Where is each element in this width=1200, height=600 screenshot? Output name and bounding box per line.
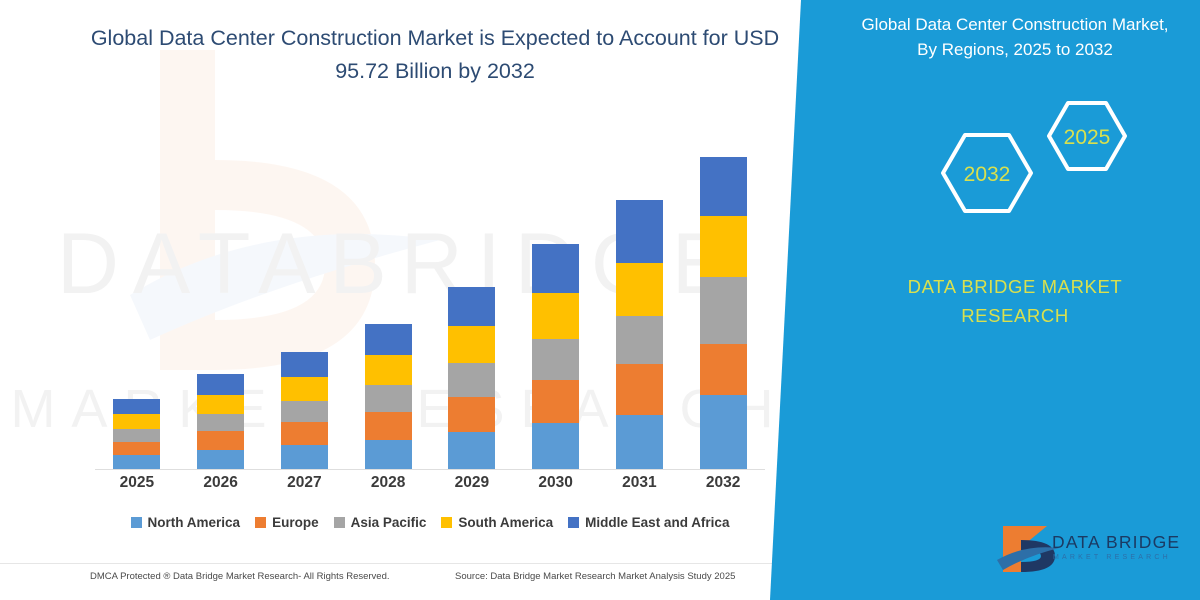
bar-segment[interactable] (532, 423, 579, 469)
bar-segment[interactable] (700, 157, 747, 216)
bar-segment[interactable] (448, 397, 495, 432)
stacked-bar[interactable] (113, 399, 160, 469)
stacked-bar[interactable] (281, 352, 328, 469)
bar-segment[interactable] (365, 412, 412, 440)
bar-segment[interactable] (197, 374, 244, 395)
legend-item[interactable]: Asia Pacific (334, 515, 427, 530)
bar-segment[interactable] (616, 415, 663, 469)
x-axis-tick-label: 2027 (263, 474, 347, 492)
bar-segment[interactable] (281, 352, 328, 377)
bar-segment[interactable] (197, 395, 244, 414)
bar-segment[interactable] (197, 431, 244, 449)
bar-segment[interactable] (197, 450, 244, 469)
bar-segment[interactable] (365, 324, 412, 355)
bar-slot (430, 143, 514, 469)
legend-item[interactable]: Europe (255, 515, 319, 530)
panel-title: Global Data Center Construction Market, … (850, 12, 1180, 62)
bar-segment[interactable] (532, 293, 579, 339)
x-axis-tick-label: 2029 (430, 474, 514, 492)
panel-brand-line1: DATA BRIDGE MARKET (850, 272, 1180, 301)
bar-segment[interactable] (365, 440, 412, 469)
bar-slot (514, 143, 598, 469)
x-axis-tick-label: 2032 (681, 474, 765, 492)
hexagon-2032: 2032 (943, 135, 1031, 211)
panel-brand-line2: RESEARCH (850, 301, 1180, 330)
bar-segment[interactable] (700, 395, 747, 469)
bar-segment[interactable] (448, 432, 495, 469)
bar-chart: 20252026202720282029203020312032 (95, 140, 765, 470)
svg-text:2025: 2025 (1064, 126, 1111, 149)
bar-slot (95, 143, 179, 469)
bar-segment[interactable] (365, 355, 412, 384)
x-axis-labels: 20252026202720282029203020312032 (95, 474, 765, 492)
bar-segment[interactable] (700, 344, 747, 395)
right-panel-content: Global Data Center Construction Market, … (830, 0, 1200, 600)
bar-segment[interactable] (113, 414, 160, 429)
chart-legend: North AmericaEuropeAsia PacificSouth Ame… (95, 515, 765, 530)
bar-segment[interactable] (616, 364, 663, 415)
footer-dmca-text: DMCA Protected ® Data Bridge Market Rese… (90, 571, 390, 582)
legend-item[interactable]: South America (441, 515, 553, 530)
footer-bar: DMCA Protected ® Data Bridge Market Rese… (0, 563, 795, 600)
legend-label: Middle East and Africa (585, 515, 729, 530)
legend-label: Asia Pacific (351, 515, 427, 530)
bar-segment[interactable] (616, 263, 663, 316)
bar-segment[interactable] (113, 399, 160, 414)
x-axis-tick-label: 2031 (598, 474, 682, 492)
legend-swatch-icon (131, 517, 142, 528)
legend-label: Europe (272, 515, 319, 530)
bar-segment[interactable] (616, 200, 663, 263)
stacked-bar[interactable] (616, 200, 663, 469)
bar-segment[interactable] (281, 401, 328, 423)
bar-segment[interactable] (113, 442, 160, 455)
stacked-bar[interactable] (197, 374, 244, 469)
chart-title: Global Data Center Construction Market i… (90, 22, 780, 88)
bar-slot (598, 143, 682, 469)
legend-swatch-icon (441, 517, 452, 528)
stacked-bar[interactable] (532, 244, 579, 469)
bar-segment[interactable] (448, 363, 495, 397)
infographic-root: DATABRIDGE MARKET RESEARCH Global Data C… (0, 0, 1200, 600)
chart-plot-area (95, 143, 765, 470)
legend-swatch-icon (334, 517, 345, 528)
legend-item[interactable]: North America (131, 515, 241, 530)
bar-segment[interactable] (281, 377, 328, 401)
x-axis-tick-label: 2028 (346, 474, 430, 492)
stacked-bar[interactable] (700, 157, 747, 469)
bar-segment[interactable] (281, 422, 328, 445)
bar-slot (263, 143, 347, 469)
bar-segment[interactable] (113, 455, 160, 469)
legend-swatch-icon (255, 517, 266, 528)
hexagon-2025: 2025 (1049, 103, 1125, 169)
bar-slot (681, 143, 765, 469)
stacked-bar[interactable] (365, 324, 412, 469)
x-axis-tick-label: 2030 (514, 474, 598, 492)
footer-source-text: Source: Data Bridge Market Research Mark… (455, 571, 735, 582)
legend-label: North America (148, 515, 241, 530)
bar-segment[interactable] (616, 316, 663, 364)
bar-segment[interactable] (448, 287, 495, 326)
bar-segment[interactable] (532, 339, 579, 380)
bar-segment[interactable] (281, 445, 328, 469)
legend-swatch-icon (568, 517, 579, 528)
bar-segment[interactable] (532, 244, 579, 293)
bar-slot (346, 143, 430, 469)
logo-subtitle: MARKET RESEARCH (1053, 554, 1171, 561)
hexagon-group: 2025 2032 (890, 95, 1160, 235)
bar-segment[interactable] (700, 277, 747, 344)
bar-segment[interactable] (365, 385, 412, 412)
x-axis-tick-label: 2025 (95, 474, 179, 492)
logo-wordmark: DATA BRIDGE (1052, 532, 1180, 553)
stacked-bar[interactable] (448, 287, 495, 469)
svg-text:2032: 2032 (964, 163, 1011, 186)
bar-segment[interactable] (197, 414, 244, 431)
bar-segment[interactable] (700, 216, 747, 277)
legend-item[interactable]: Middle East and Africa (568, 515, 729, 530)
bar-slot (179, 143, 263, 469)
bar-segment[interactable] (532, 380, 579, 423)
panel-brand: DATA BRIDGE MARKET RESEARCH (850, 272, 1180, 330)
x-axis-tick-label: 2026 (179, 474, 263, 492)
bar-segment[interactable] (113, 429, 160, 442)
legend-label: South America (458, 515, 553, 530)
bar-segment[interactable] (448, 326, 495, 363)
